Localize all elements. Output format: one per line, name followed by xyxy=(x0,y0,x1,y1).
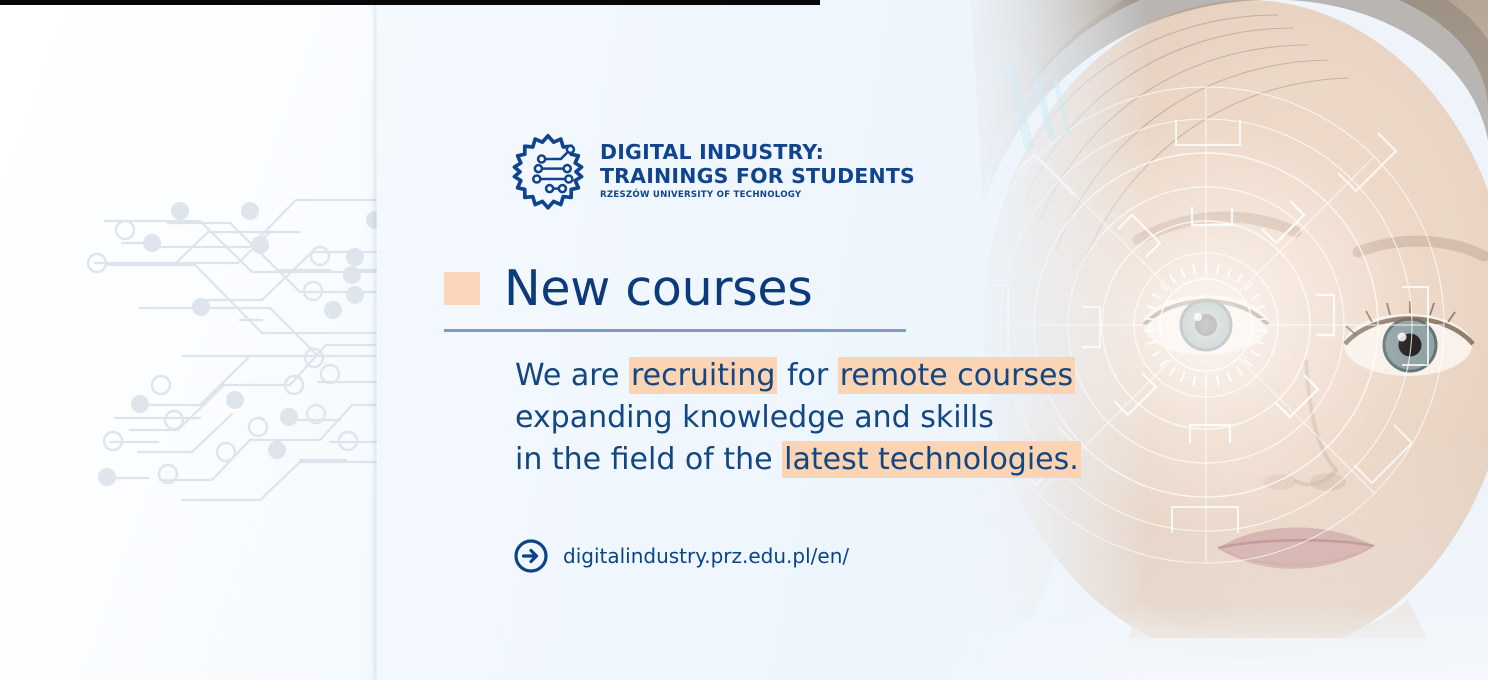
website-url-text[interactable]: digitalindustry.prz.edu.pl/en/ xyxy=(563,544,849,568)
body-highlight-remote-courses: remote courses xyxy=(838,357,1075,394)
body-line-1-part-a: We are xyxy=(515,358,629,393)
brand-logo-text: DIGITAL INDUSTRY: TRAININGS FOR STUDENTS… xyxy=(600,142,915,200)
brand-logo[interactable]: DIGITAL INDUSTRY: TRAININGS FOR STUDENTS… xyxy=(508,131,915,211)
body-highlight-latest-technologies: latest technologies. xyxy=(782,441,1081,478)
body-line-1-part-b: for xyxy=(777,358,837,393)
panel-edge-shadow xyxy=(372,0,378,680)
top-black-rule xyxy=(0,0,820,5)
headline-bullet-square xyxy=(444,272,480,305)
logo-line-2: TRAININGS FOR STUDENTS xyxy=(600,166,915,187)
logo-line-1: DIGITAL INDUSTRY: xyxy=(600,142,915,163)
logo-line-3-university: RZESZÓW UNIVERSITY OF TECHNOLOGY xyxy=(600,191,915,200)
body-line-2: expanding knowledge and skills xyxy=(515,397,1081,439)
page-title: New courses xyxy=(504,264,812,313)
body-highlight-recruiting: recruiting xyxy=(629,357,777,394)
arrow-right-circle-icon[interactable] xyxy=(513,538,549,574)
body-line-3-part-a: in the field of the xyxy=(515,442,782,477)
body-line-3: in the field of the latest technologies. xyxy=(515,439,1081,481)
promo-banner: 1 0 1 0 0 1 1 0 1 1 1 0 0 1 0 1 0 1 1 1 … xyxy=(0,0,1488,680)
circuit-pattern-decoration xyxy=(0,0,420,680)
hero-photo: 1 0 1 0 0 1 1 0 1 1 1 0 0 1 0 1 0 1 1 1 … xyxy=(888,0,1488,680)
headline-row: New courses xyxy=(444,264,812,313)
gear-circuit-icon xyxy=(508,131,588,211)
body-copy: We are recruiting for remote courses exp… xyxy=(515,355,1081,481)
headline-divider xyxy=(444,329,906,332)
website-link[interactable]: digitalindustry.prz.edu.pl/en/ xyxy=(513,538,849,574)
body-line-1: We are recruiting for remote courses xyxy=(515,355,1081,397)
